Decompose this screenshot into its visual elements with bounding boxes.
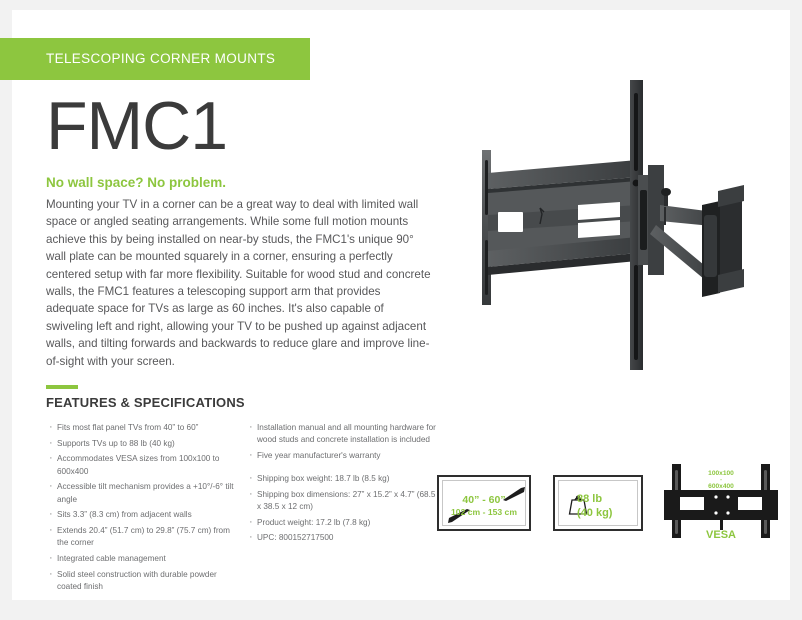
vesa-badge: 100x100 - 600x400 VESA [660,462,782,542]
list-item: Sits 3.3” (8.3 cm) from adjacent walls [48,509,238,521]
page-title: FMC1 [46,92,227,160]
screen-size-badge: 40” - 60” 102 cm - 153 cm [437,475,531,531]
features-list-left: Fits most flat panel TVs from 40” to 60”… [48,422,238,596]
features-accent-bar [46,385,78,389]
screen-size-centimeters: 102 cm - 153 cm [439,507,529,517]
features-heading: FEATURES & SPECIFICATIONS [46,395,245,410]
list-item: Shipping box weight: 18.7 lb (8.5 kg) [248,473,438,485]
list-item: Accessible tilt mechanism provides a +10… [48,481,238,505]
list-item: Supports TVs up to 88 lb (40 kg) [48,438,238,450]
product-description: Mounting your TV in a corner can be a gr… [46,196,431,370]
list-item: Installation manual and all mounting har… [248,422,438,446]
list-item: Accommodates VESA sizes from 100x100 to … [48,453,238,477]
screen-size-inches: 40” - 60” [439,494,529,506]
list-item: UPC: 800152717500 [248,532,438,544]
list-item: Shipping box dimensions: 27” x 15.2” x 4… [248,489,438,513]
list-item: Fits most flat panel TVs from 40” to 60” [48,422,238,434]
weight-kilograms: (40 kg) [577,507,612,519]
category-banner-label: TELESCOPING CORNER MOUNTS [46,51,275,66]
features-list-right: Installation manual and all mounting har… [248,422,438,548]
vesa-label: VESA [660,529,782,541]
list-item: Solid steel construction with durable po… [48,569,238,593]
tagline: No wall space? No problem. [46,175,226,190]
category-banner: TELESCOPING CORNER MOUNTS [0,38,310,80]
list-item: Extends 20.4” (51.7 cm) to 29.8” (75.7 c… [48,525,238,549]
weight-pounds: 88 lb [577,493,602,505]
list-item: Integrated cable management [48,553,238,565]
vesa-separator: - [660,477,782,483]
spec-sheet-page: TELESCOPING CORNER MOUNTS FMC1 No wall s… [12,10,790,600]
vesa-max-size: 600x400 [660,483,782,490]
product-photo [452,65,782,385]
list-item: Five year manufacturer's warranty [248,450,438,462]
weight-capacity-badge: 88 lb (40 kg) [553,475,643,531]
list-item: Product weight: 17.2 lb (7.8 kg) [248,517,438,529]
